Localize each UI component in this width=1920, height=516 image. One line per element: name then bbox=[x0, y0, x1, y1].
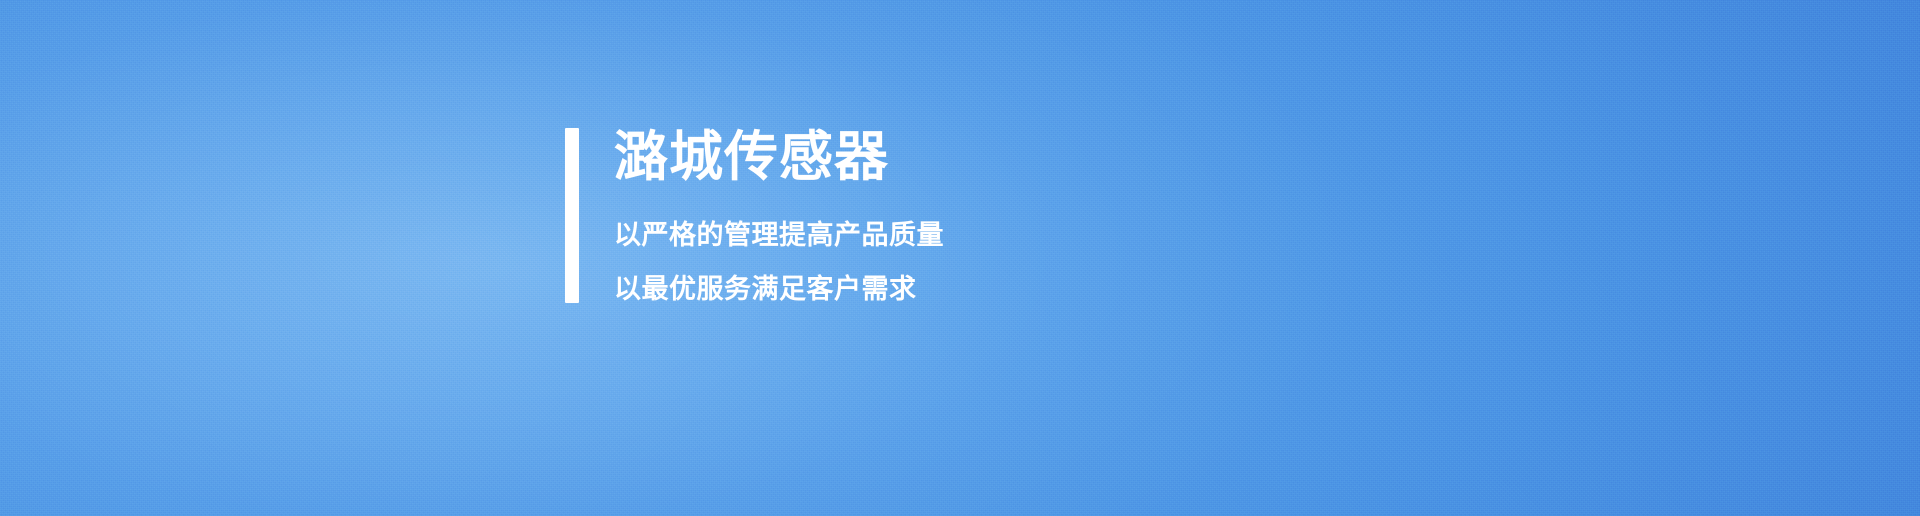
hero-subtitle-line-2: 以最优服务满足客户需求 bbox=[614, 276, 944, 303]
accent-bar bbox=[565, 128, 579, 303]
background-noise-texture bbox=[0, 0, 1920, 516]
hero-subtitle-line-1: 以严格的管理提高产品质量 bbox=[614, 222, 944, 249]
hero-text-block: 潞城传感器 以严格的管理提高产品质量 以最优服务满足客户需求 bbox=[614, 128, 944, 303]
hero-banner: 潞城传感器 以严格的管理提高产品质量 以最优服务满足客户需求 bbox=[0, 0, 1920, 516]
page-title: 潞城传感器 bbox=[614, 128, 944, 184]
hero-content: 潞城传感器 以严格的管理提高产品质量 以最优服务满足客户需求 bbox=[565, 128, 944, 303]
